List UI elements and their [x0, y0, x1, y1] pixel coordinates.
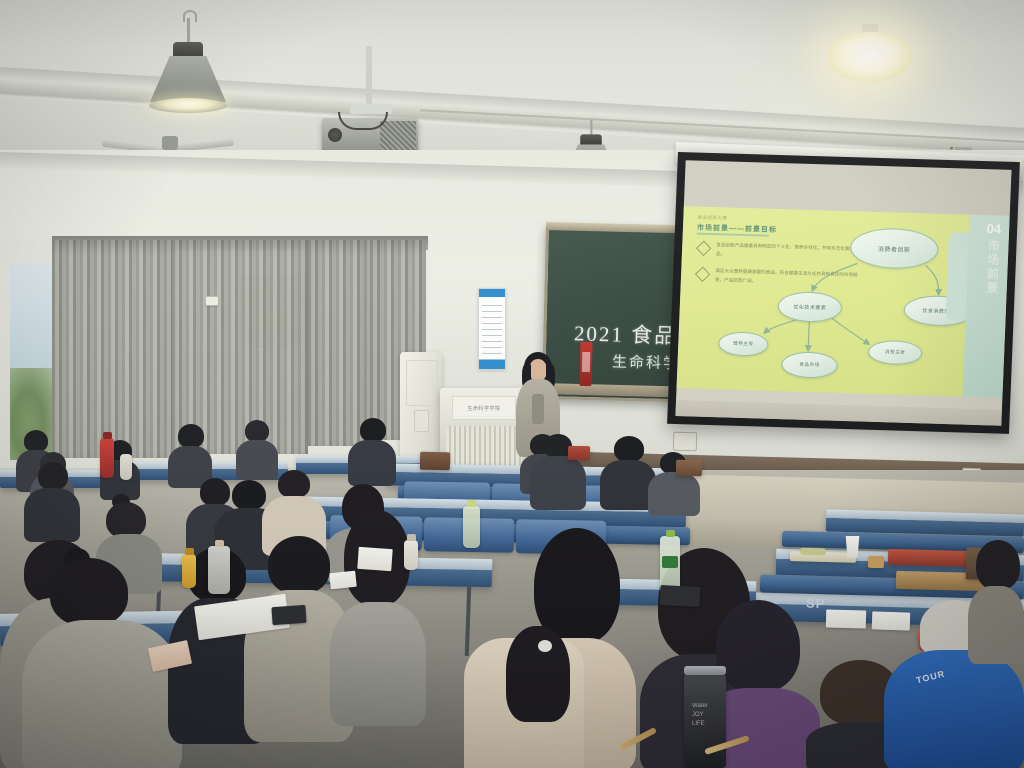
clear-water-bottle	[208, 546, 230, 594]
wooden-box-1	[420, 452, 450, 471]
wall-socket-window[interactable]	[205, 296, 219, 306]
product-box-red	[888, 549, 974, 567]
flowchart-node-a: 优化技术要素	[777, 291, 842, 323]
lamp-bulb	[149, 98, 227, 113]
presentation-slide: 食品创新大赛 市场前景——前景目标 食品创新产品需要具有明显的个人化、营养多样化…	[677, 206, 1010, 398]
classroom-scene: 2021 食品创新大赛 生命科学学院 ■ screen	[0, 0, 1024, 768]
small-cup-left	[120, 454, 132, 480]
thermos-print: WaterJOYLIFE	[692, 702, 720, 750]
bullet-diamond-icon	[695, 267, 711, 283]
flowchart-node-main: 消费者创新	[850, 227, 940, 270]
screen-blank-band	[675, 400, 1002, 426]
lectern-plaque: 生命科学学院	[452, 396, 516, 420]
extinguisher-label	[582, 352, 590, 372]
student-back-5	[236, 420, 278, 476]
slide-section-number: 04	[986, 221, 1001, 236]
student-mid-1	[24, 462, 80, 536]
presenter-jacket-zipper	[532, 394, 544, 424]
paper-note	[357, 547, 392, 571]
lamp-globe	[828, 32, 912, 82]
thermos-lid	[684, 666, 726, 675]
lamp-hook-icon	[183, 10, 197, 22]
projector-mount-pole	[366, 46, 372, 110]
wall-schedule-poster	[478, 288, 506, 370]
student-mid-7	[530, 434, 586, 506]
ac-panel	[406, 360, 438, 406]
lamp-cap	[173, 42, 203, 58]
fan-hub	[162, 136, 178, 150]
small-bottle	[404, 540, 418, 570]
hair-tie	[538, 640, 552, 652]
green-cap-bottle	[463, 506, 480, 548]
projector-lens-icon	[328, 128, 342, 142]
wall-light-switch[interactable]	[673, 432, 697, 452]
slide-section-title: 市场前景	[984, 239, 1003, 295]
slide-side-notch	[945, 232, 969, 321]
food-sample-items	[800, 548, 826, 556]
fire-extinguisher	[579, 342, 592, 386]
air-conditioner-unit	[400, 352, 442, 464]
red-sample-box	[568, 446, 590, 460]
screen-brand-label: ■ screen	[950, 146, 973, 153]
ac-control-knob[interactable]	[414, 410, 429, 432]
curtain-panel-3[interactable]	[308, 240, 370, 446]
flowchart-node-d: 食品市场	[781, 351, 838, 379]
food-sample-bowl	[868, 556, 884, 568]
bullet-diamond-icon	[696, 241, 712, 257]
flowchart-node-e: 消费主张	[868, 340, 923, 366]
student-back-6	[348, 418, 396, 480]
bottle-label	[662, 556, 678, 568]
slide-bullet-1: 食品创新产品需要具有明显的个人化、营养多样化，并有多元化需求的产品。	[716, 241, 867, 263]
slide-kicker: 食品创新大赛	[697, 215, 727, 222]
slide-bullet-2: 满足大众营养健康需要的食品，符合健康生活方式并具有良好的市场前景，产品前景广阔。	[715, 267, 866, 289]
projection-screen-surface: 食品创新大赛 市场前景——前景目标 食品创新产品需要具有明显的个人化、营养多样化…	[675, 160, 1011, 425]
student-right-edge	[968, 540, 1024, 660]
projector-vent	[380, 121, 416, 151]
red-bottle	[100, 438, 114, 478]
lamp-cap	[580, 134, 602, 146]
dome-ceiling-light	[828, 24, 912, 82]
flowchart-node-c: 营养主导	[718, 331, 769, 356]
condiment-bottle	[182, 554, 196, 588]
paper-scrap	[329, 571, 357, 590]
smartphone-on-desk[interactable]	[660, 585, 701, 607]
curtain-panel-1[interactable]	[52, 240, 172, 458]
lectern-grille	[446, 426, 522, 466]
student-back-4	[168, 424, 212, 482]
lamp-rod	[187, 18, 190, 44]
smartphone-held[interactable]	[271, 605, 306, 625]
projection-screen-frame: 食品创新大赛 市场前景——前景目标 食品创新产品需要具有明显的个人化、营养多样化…	[667, 152, 1020, 434]
wooden-box-2	[676, 460, 702, 476]
presenter-head	[529, 359, 547, 381]
student-front-hair	[506, 626, 570, 722]
